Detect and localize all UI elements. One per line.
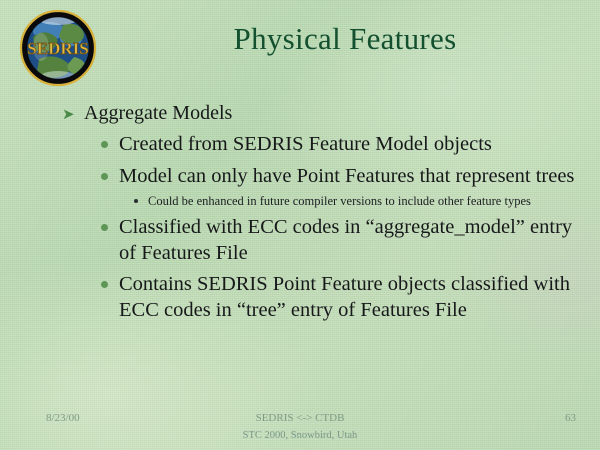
sedris-logo-icon: SEDRIS	[19, 9, 97, 87]
slide: SEDRIS Physical Features ➤ Aggregate Mod…	[0, 0, 600, 450]
bullet-level2-created-from: Created from SEDRIS Feature Model object…	[99, 132, 582, 158]
disc-bullet-icon	[101, 281, 108, 288]
bullet-text: Created from SEDRIS Feature Model object…	[119, 133, 492, 155]
bullet-level2-contains-point-features: Contains SEDRIS Point Feature objects cl…	[99, 272, 582, 323]
bullet-text: Could be enhanced in future compiler ver…	[148, 194, 531, 208]
bullet-level2-classified-ecc: Classified with ECC codes in “aggregate_…	[99, 215, 582, 266]
bullet-level3-future-compiler: Could be enhanced in future compiler ver…	[134, 193, 590, 209]
footer-event-label: STC 2000, Snowbird, Utah	[0, 430, 600, 441]
bullet-level2-point-features: Model can only have Point Features that …	[99, 164, 582, 190]
bullet-level1-aggregate-models: ➤ Aggregate Models	[62, 101, 582, 126]
arrow-bullet-icon: ➤	[62, 110, 77, 120]
footer-page-number: 63	[0, 412, 576, 424]
disc-bullet-icon	[101, 141, 108, 148]
sedris-logo: SEDRIS	[19, 9, 97, 87]
bullet-text: Classified with ECC codes in “aggregate_…	[119, 216, 572, 264]
page-title: Physical Features	[120, 21, 570, 57]
disc-bullet-icon	[101, 224, 108, 231]
small-disc-bullet-icon	[134, 199, 138, 203]
disc-bullet-icon	[101, 173, 108, 180]
bullet-text: Model can only have Point Features that …	[119, 165, 574, 187]
bullet-text: Aggregate Models	[84, 102, 232, 124]
content-body: ➤ Aggregate Models Created from SEDRIS F…	[62, 101, 582, 323]
sedris-wordmark: SEDRIS	[27, 39, 88, 58]
bullet-text: Contains SEDRIS Point Feature objects cl…	[119, 273, 570, 321]
